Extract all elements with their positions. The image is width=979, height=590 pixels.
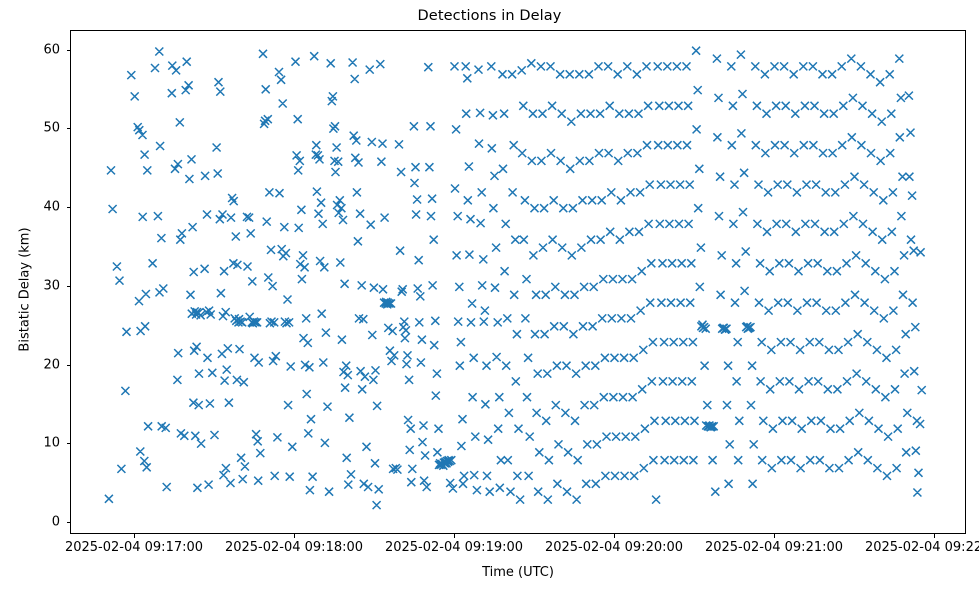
y-tick-mark (67, 50, 71, 51)
y-tick-mark (67, 522, 71, 523)
x-tick-mark (134, 534, 135, 538)
x-tick-label: 2025-02-04 09:20:00 (545, 540, 683, 555)
x-tick-label: 2025-02-04 09:21:00 (705, 540, 843, 555)
y-tick-mark (67, 443, 71, 444)
y-tick-label: 40 (0, 200, 60, 215)
x-tick-label: 2025-02-04 09:18:00 (225, 540, 363, 555)
y-tick-label: 0 (0, 515, 60, 530)
x-tick-mark (774, 534, 775, 538)
y-tick-label: 30 (0, 278, 60, 293)
y-tick-label: 10 (0, 436, 60, 451)
y-tick-mark (67, 286, 71, 287)
y-tick-label: 20 (0, 357, 60, 372)
y-tick-label: 60 (0, 42, 60, 57)
x-tick-mark (614, 534, 615, 538)
x-tick-mark (294, 534, 295, 538)
y-tick-mark (67, 128, 71, 129)
scatter-points-layer (71, 31, 966, 534)
plot-area (70, 30, 966, 534)
scatter-marker-set (105, 47, 926, 509)
chart-figure: Detections in Delay Time (UTC) Bistatic … (0, 0, 979, 590)
y-tick-label: 50 (0, 121, 60, 136)
x-tick-label: 2025-02-04 09:17:00 (65, 540, 203, 555)
page-title: Detections in Delay (0, 8, 979, 24)
x-tick-label: 2025-02-04 09:22:00 (865, 540, 979, 555)
y-tick-mark (67, 365, 71, 366)
x-tick-mark (454, 534, 455, 538)
y-tick-mark (67, 207, 71, 208)
x-tick-mark (934, 534, 935, 538)
x-tick-label: 2025-02-04 09:19:00 (385, 540, 523, 555)
x-axis-label: Time (UTC) (70, 565, 966, 580)
